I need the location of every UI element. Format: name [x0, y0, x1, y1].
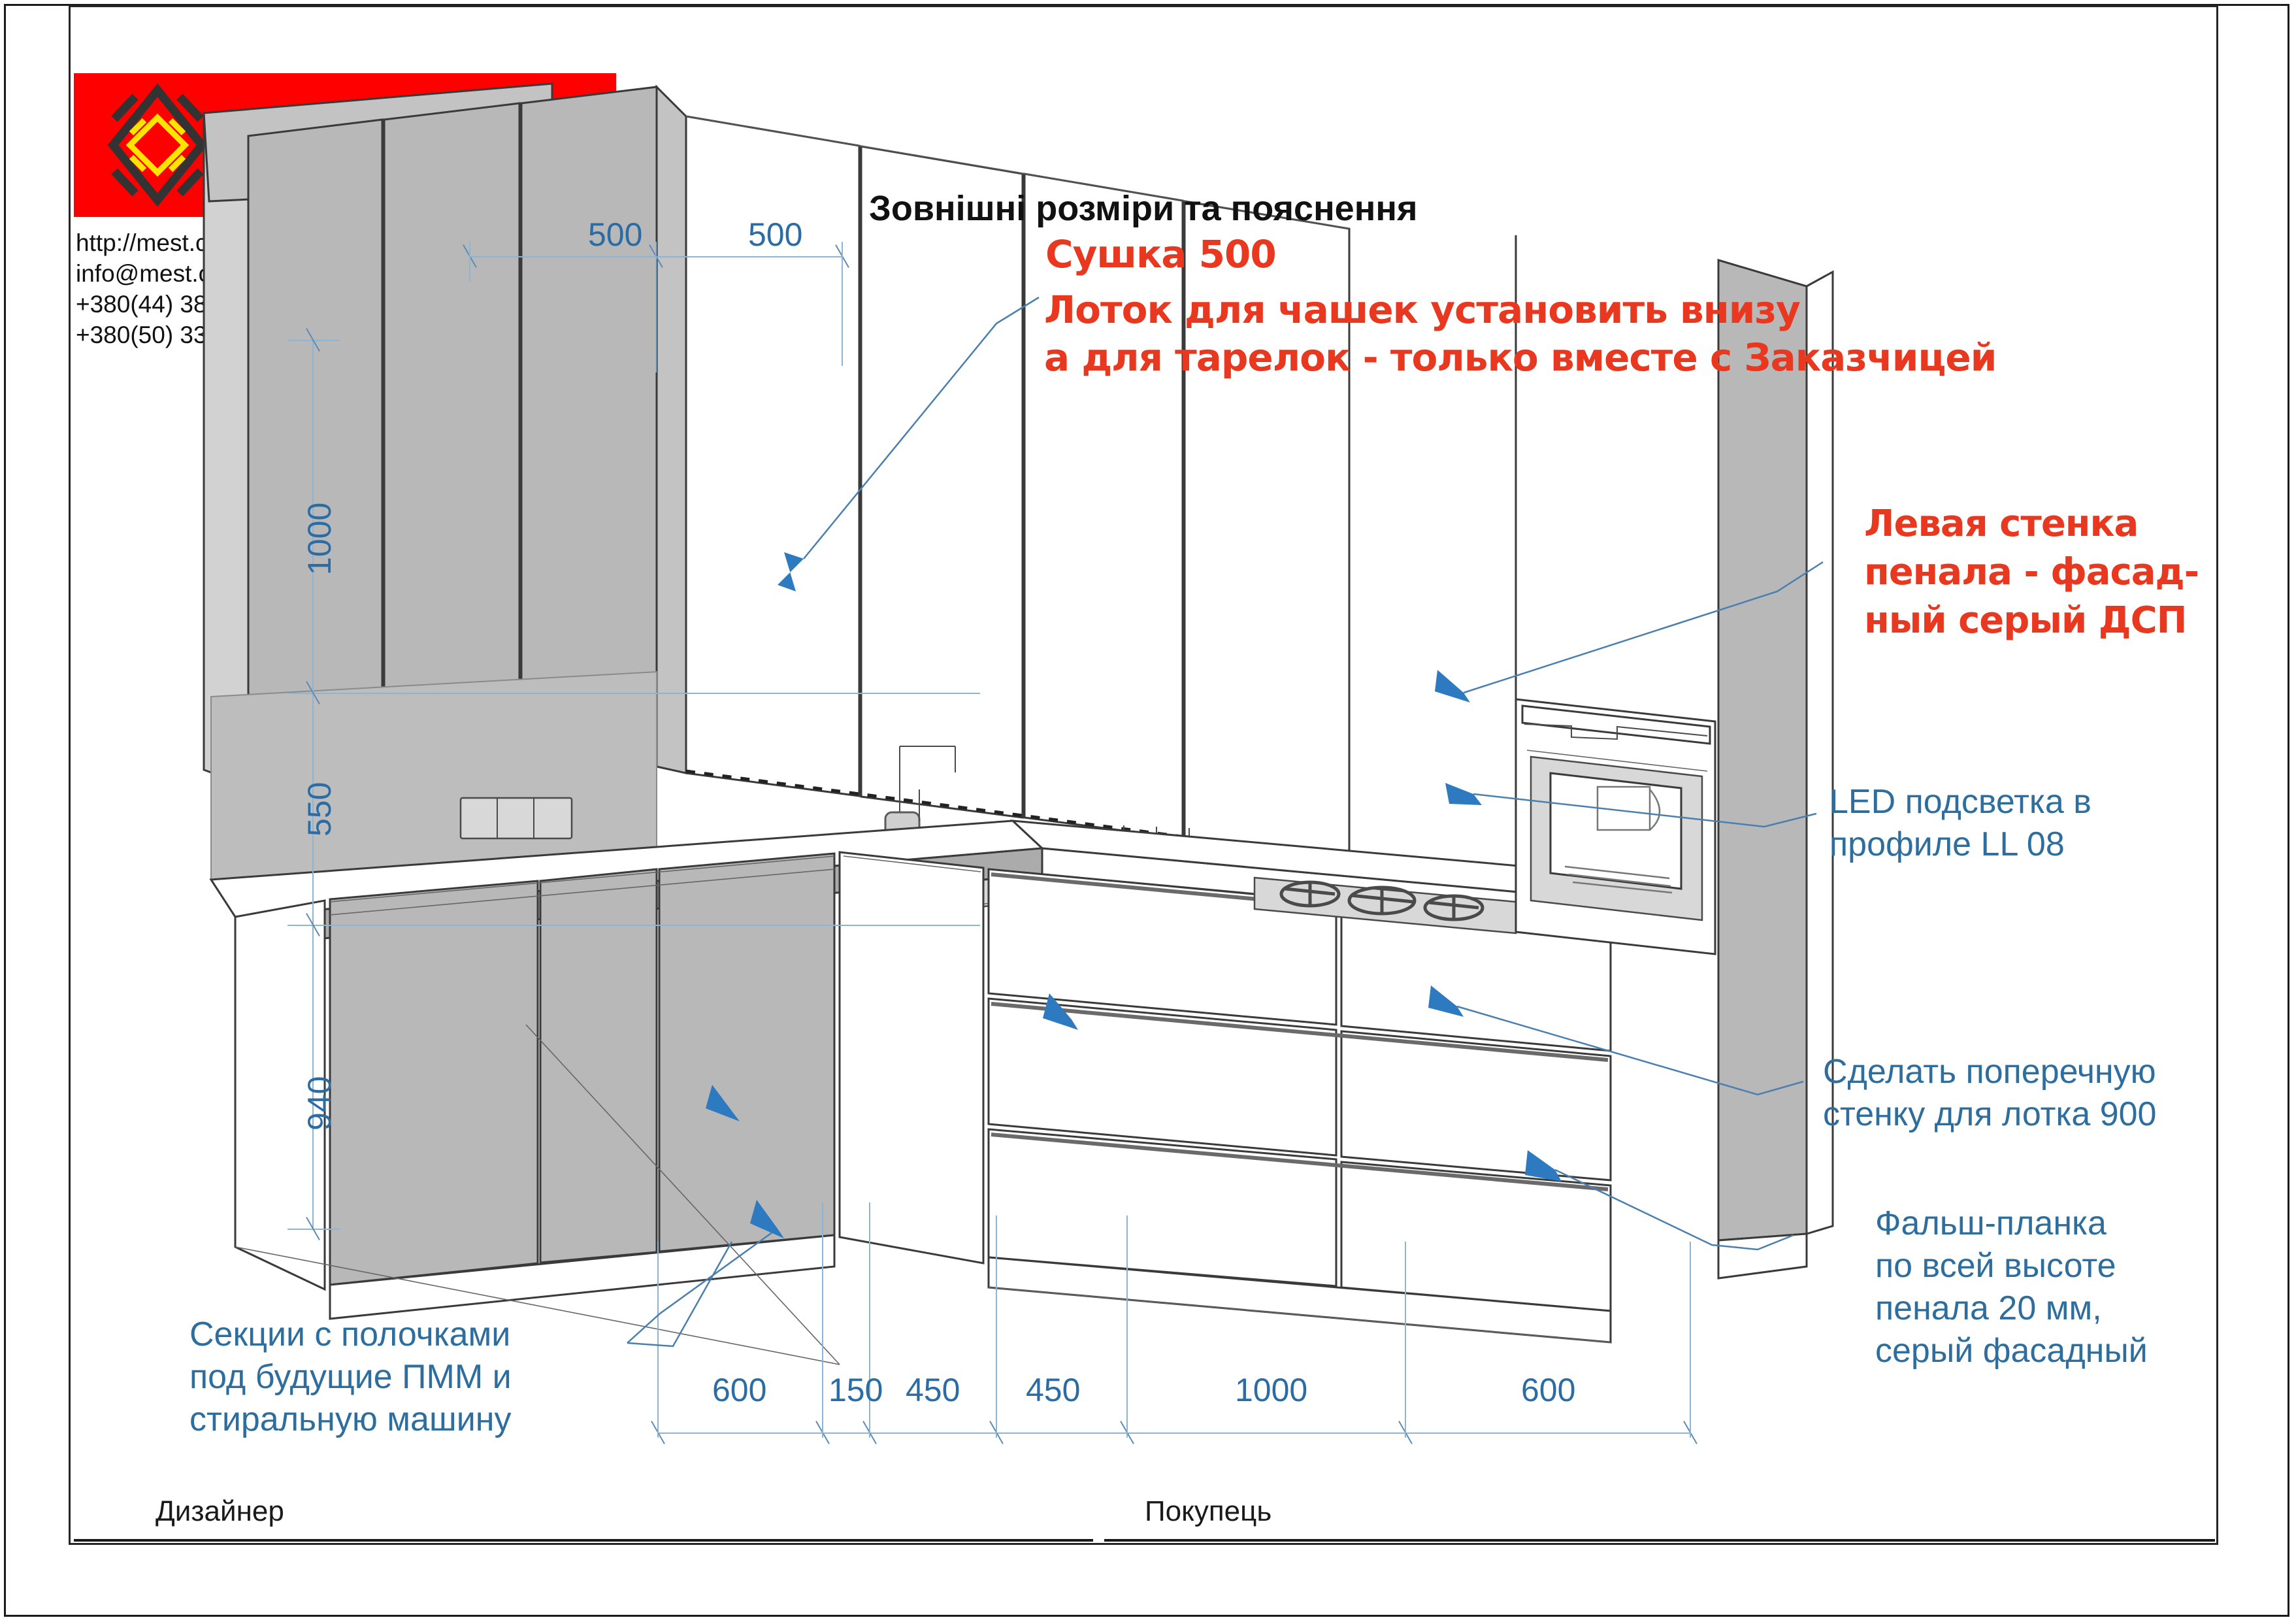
blue-note-led: LED подсветка в профиле LL 08: [1829, 781, 2091, 866]
footer-rule-left: [74, 1539, 1093, 1542]
red-note-pencil-left-wall: Левая стенка пенала - фасад- ный серый Д…: [1864, 500, 2199, 645]
red-note-dryer: Сушка 500: [1045, 232, 1276, 276]
dim-top-1: 500: [588, 216, 642, 254]
red-note-tray: Лоток для чашек установить внизу а для т…: [1044, 286, 1996, 381]
page-title: Зовнішні розміри та пояснення: [869, 188, 1417, 229]
base-drawers-right: [989, 869, 1611, 1342]
dim-bot-600b: 600: [1521, 1371, 1575, 1409]
dim-bot-1000: 1000: [1235, 1371, 1307, 1409]
dim-bot-600a: 600: [712, 1371, 766, 1409]
wall-socket-left: [461, 798, 572, 838]
footer-rule-right: [1104, 1539, 2215, 1542]
dim-left-1000: 1000: [301, 503, 338, 575]
backsplash-left-wall: [209, 87, 657, 880]
dim-bot-450a: 450: [906, 1371, 960, 1409]
blue-note-sections: Секции с полочками под будущие ПММ и сти…: [189, 1314, 512, 1441]
dim-top-2: 500: [748, 216, 802, 254]
dim-bot-150: 150: [828, 1371, 883, 1409]
blue-note-false-panel: Фальш-планка по всей высоте пенала 20 мм…: [1875, 1202, 2148, 1372]
dim-left-550: 550: [301, 782, 338, 836]
corner-base-cabinet: [840, 852, 983, 1263]
footer-buyer-label: Покупець: [1145, 1495, 1271, 1528]
dim-left-940: 940: [301, 1076, 338, 1131]
footer-designer-label: Дизайнер: [156, 1495, 284, 1528]
blue-note-cross-wall: Сделать поперечную стенку для лотка 900: [1823, 1051, 2156, 1136]
dim-bot-450b: 450: [1026, 1371, 1080, 1409]
